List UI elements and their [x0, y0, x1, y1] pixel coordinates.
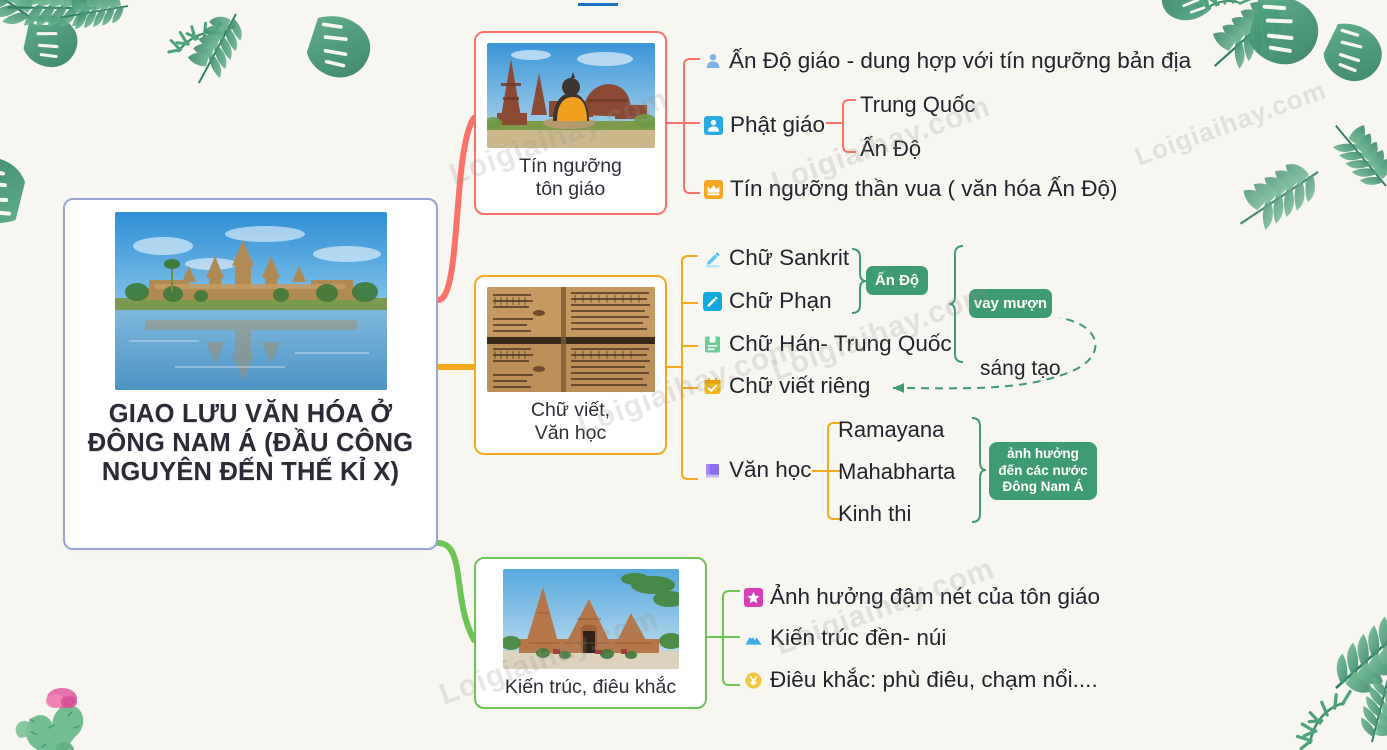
subleaf-kinh-thi[interactable]: Kinh thi — [838, 501, 911, 527]
leaf-chu-han[interactable]: Chữ Hán- Trung Quốc — [703, 331, 952, 357]
branch-caption-writing: Chữ viết, Văn học — [531, 399, 610, 445]
leaf-chu-phan[interactable]: Chữ Phạn — [703, 288, 832, 314]
leaf-label: Kiến trúc đền- núi — [770, 625, 946, 651]
sanskrit-palm-leaf-manuscript-photo — [487, 287, 655, 392]
badge-vay-muon[interactable]: vay mượn — [969, 289, 1052, 318]
angkor-wat-photo — [115, 212, 387, 390]
subleaf-mahabharta[interactable]: Mahabharta — [838, 459, 955, 485]
leaf-label: Văn học — [729, 457, 812, 483]
leaf-label: Chữ Hán- Trung Quốc — [729, 331, 952, 357]
star-square-icon — [744, 588, 763, 607]
mindmap-canvas: GIAO LƯU VĂN HÓA Ở ĐÔNG NAM Á (ĐẦU CÔNG … — [0, 0, 1387, 750]
top-link-bar[interactable] — [578, 3, 618, 6]
leaf-kien-truc-den-nui[interactable]: Kiến trúc đền- núi — [744, 625, 946, 651]
branch-card-architecture[interactable]: Kiến trúc, điêu khắc — [474, 557, 707, 709]
badge-an-do[interactable]: Ấn Độ — [866, 266, 928, 295]
central-node[interactable]: GIAO LƯU VĂN HÓA Ở ĐÔNG NAM Á (ĐẦU CÔNG … — [63, 198, 438, 550]
leaf-dieu-khac[interactable]: Điêu khắc: phù điêu, chạm nổi.... — [744, 667, 1098, 693]
subleaf-ramayana[interactable]: Ramayana — [838, 417, 944, 443]
leaf-label: Ảnh hưởng đậm nét của tôn giáo — [770, 584, 1100, 610]
badge-anh-huong[interactable]: ảnh hưởng đến các nước Đông Nam Á — [989, 442, 1097, 500]
leaf-label: Chữ Phạn — [729, 288, 832, 314]
mountain-icon — [744, 629, 763, 648]
leaf-anh-huong-ton-giao[interactable]: Ảnh hưởng đậm nét của tôn giáo — [744, 584, 1100, 610]
page-title: GIAO LƯU VĂN HÓA Ở ĐÔNG NAM Á (ĐẦU CÔNG … — [79, 400, 422, 487]
leaf-label: Điêu khắc: phù điêu, chạm nổi.... — [770, 667, 1098, 693]
buddha-statue-ruins-photo — [487, 43, 655, 148]
pencil-square-icon — [703, 292, 722, 311]
leaf-label: Phật giáo — [730, 112, 825, 138]
leaf-tin-nguong-than-vua[interactable]: Tín ngưỡng thần vua ( văn hóa Ấn Độ) — [704, 176, 1118, 202]
leaf-chu-sankrit[interactable]: Chữ Sankrit — [703, 245, 849, 271]
leaf-label: Chữ Sankrit — [729, 245, 849, 271]
leaf-label: Chữ viết riêng — [729, 373, 870, 399]
annotation-sang-tao: sáng tạo — [980, 357, 1061, 381]
note-icon — [703, 335, 722, 354]
cham-tower-photo — [503, 569, 679, 669]
leaf-chu-viet-rieng[interactable]: Chữ viết riêng — [703, 373, 870, 399]
subleaf-trung-quoc[interactable]: Trung Quốc — [860, 92, 975, 118]
branch-caption-architecture: Kiến trúc, điêu khắc — [505, 676, 676, 699]
leaf-an-do-giao[interactable]: Ấn Độ giáo - dung hợp với tín ngưỡng bản… — [704, 48, 1191, 74]
subleaf-an-do[interactable]: Ấn Độ — [860, 136, 921, 162]
coin-icon — [744, 671, 763, 690]
pencil-icon — [703, 249, 722, 268]
branch-card-religion[interactable]: Tín ngưỡng tôn giáo — [474, 31, 667, 215]
user-badge-icon — [704, 116, 723, 135]
leaf-van-hoc[interactable]: Văn học — [703, 457, 812, 483]
leaf-label: Ấn Độ giáo - dung hợp với tín ngưỡng bản… — [729, 48, 1191, 74]
calendar-check-icon — [703, 377, 722, 396]
book-icon — [703, 461, 722, 480]
branch-caption-religion: Tín ngưỡng tôn giáo — [519, 155, 622, 201]
leaf-phat-giao[interactable]: Phật giáo — [704, 112, 825, 138]
crown-icon — [704, 180, 723, 199]
leaf-label: Tín ngưỡng thần vua ( văn hóa Ấn Độ) — [730, 176, 1118, 202]
branch-card-writing[interactable]: Chữ viết, Văn học — [474, 275, 667, 455]
person-icon — [704, 52, 722, 70]
